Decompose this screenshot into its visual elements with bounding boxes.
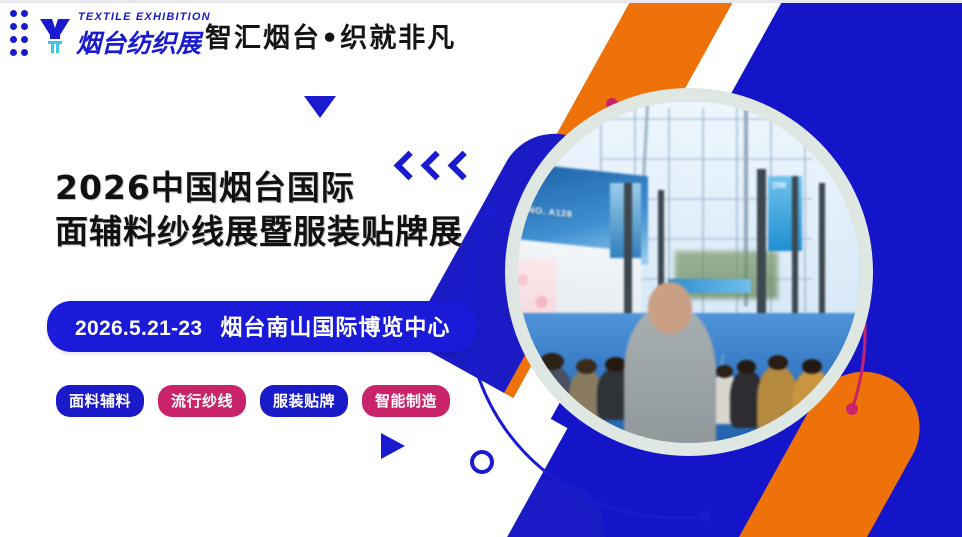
category-tag-list: 面料辅料 流行纱线 服装贴牌 智能制造: [56, 385, 450, 417]
slogan-text: 智汇烟台•织就非凡: [205, 16, 456, 55]
brand-logo[interactable]: TEXTILE EXHIBITION 烟台纺织展: [10, 8, 211, 62]
exhibition-photo: NO. A128 DW: [518, 101, 860, 443]
brand-english-name: TEXTILE EXHIBITION: [78, 11, 211, 23]
dot: [21, 49, 28, 56]
triangle-down-icon: [304, 96, 336, 118]
circle-outline-icon: [470, 450, 494, 474]
dot: [21, 23, 28, 30]
triangle-right-icon: [381, 433, 405, 459]
tag-apparel-oem[interactable]: 服装贴牌: [260, 385, 348, 417]
tag-fabric-accessories[interactable]: 面料辅料: [56, 385, 144, 417]
dot: [21, 10, 28, 17]
tag-smart-manufacturing[interactable]: 智能制造: [362, 385, 450, 417]
date-venue-badge: 2026.5.21-23 烟台南山国际博览中心: [47, 301, 478, 352]
dot: [21, 36, 28, 43]
tag-fashion-yarn[interactable]: 流行纱线: [158, 385, 246, 417]
dot: [10, 10, 17, 17]
event-date: 2026.5.21-23: [75, 317, 202, 341]
poster-canvas: NO. A128 DW: [0, 0, 962, 537]
right-booth-banner-text: DW: [773, 181, 786, 190]
logo-y-mark-icon: [38, 15, 72, 55]
dot-grid-decoration: [10, 10, 32, 62]
dot: [10, 23, 17, 30]
exhibition-photo-circle: NO. A128 DW: [505, 88, 873, 456]
headline-line-2: 面辅料纱线展暨服装贴牌展: [55, 210, 463, 254]
headline-line-1: 2026中国烟台国际: [55, 166, 463, 210]
top-divider-line: [0, 0, 962, 3]
page-title: 2026中国烟台国际 面辅料纱线展暨服装贴牌展: [55, 166, 463, 253]
event-venue: 烟台南山国际博览中心: [220, 310, 450, 342]
dot: [10, 49, 17, 56]
dot: [10, 36, 17, 43]
foreground-visitor-head: [648, 282, 692, 333]
brand-chinese-name: 烟台纺织展: [76, 24, 211, 60]
